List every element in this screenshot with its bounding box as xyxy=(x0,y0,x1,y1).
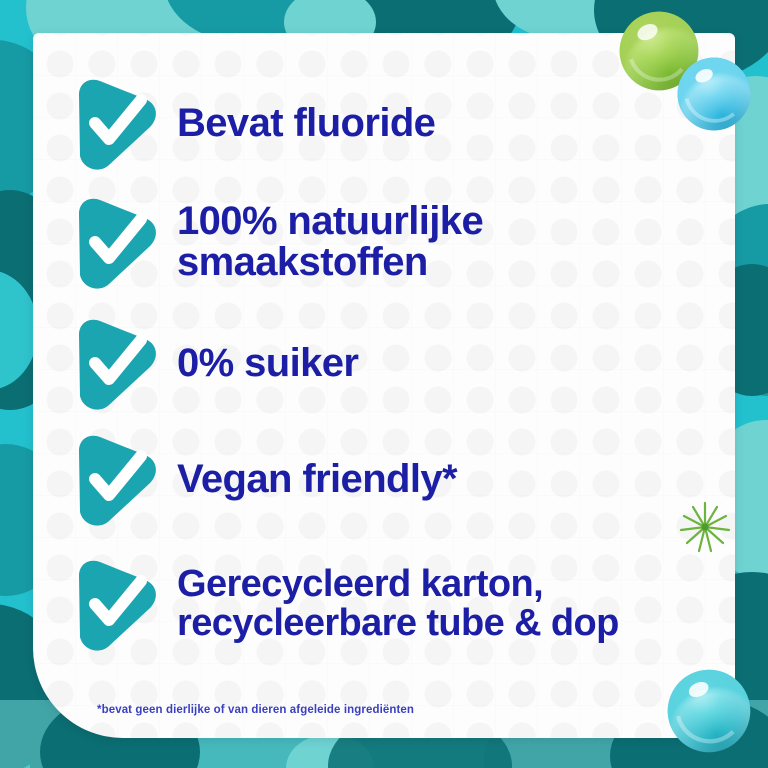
feature-item: 0% suiker xyxy=(65,307,727,419)
feature-label: Gerecycleerd karton, recycleerbare tube … xyxy=(177,565,619,643)
feature-list: Bevat fluoride 100% natuurlijke smaaksto… xyxy=(65,69,727,669)
teal-sphere xyxy=(666,668,752,754)
feature-label: 0% suiker xyxy=(177,343,358,384)
feature-label: Vegan friendly* xyxy=(177,459,457,500)
check-badge-icon xyxy=(65,429,165,529)
blue-sphere xyxy=(676,56,752,132)
check-badge-icon xyxy=(65,554,165,654)
feature-label: Bevat fluoride xyxy=(177,103,435,144)
feature-item: Vegan friendly* xyxy=(65,419,727,539)
sparkle-icon xyxy=(669,491,735,563)
check-badge-icon xyxy=(65,313,165,413)
check-badge-icon xyxy=(65,192,165,292)
content-card: Bevat fluoride 100% natuurlijke smaaksto… xyxy=(33,33,735,738)
footnote-text: *bevat geen dierlijke of van dieren afge… xyxy=(97,704,414,716)
check-badge-icon xyxy=(65,73,165,173)
feature-item: Gerecycleerd karton, recycleerbare tube … xyxy=(65,539,727,669)
feature-label: 100% natuurlijke smaakstoffen xyxy=(177,201,483,283)
feature-item: 100% natuurlijke smaakstoffen xyxy=(65,177,727,307)
